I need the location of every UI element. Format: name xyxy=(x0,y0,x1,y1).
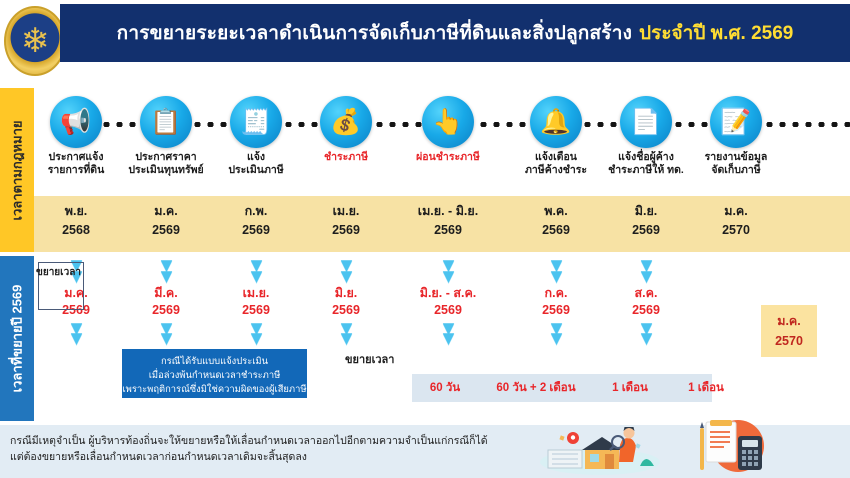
legal-date-cell-1: พ.ย.2568 xyxy=(28,202,124,240)
legal-date-month-3: ก.พ. xyxy=(208,202,304,221)
legal-date-cell-3: ก.พ.2569 xyxy=(208,202,304,240)
money-bag-hand-icon: 💰 xyxy=(320,96,372,148)
clipboard-person-icon: 📋 xyxy=(140,96,192,148)
timeline-step-label-6: แจ้งเตือนภาษีค้างชำระ xyxy=(508,151,604,177)
duration-cell-3: 1 เดือน xyxy=(592,374,668,402)
legal-date-month-4: เม.ย. xyxy=(298,202,394,221)
chevron-double-down-icon-lower: ▾▾ xyxy=(400,323,496,343)
extended-date-cell-6: ▾▾ก.ค.2569▾▾ xyxy=(508,260,604,343)
infographic-root: ❄ การขยายระยะเวลาดำเนินการจัดเก็บภาษีที่… xyxy=(0,0,850,478)
extension-chip-jan-2570: ม.ค. 2570 xyxy=(761,305,817,357)
legal-date-year-8: 2570 xyxy=(688,221,784,240)
timeline-strip: 📢ประกาศแจ้งรายการที่ดิน📋ประกาศราคาประเมิ… xyxy=(34,88,850,196)
footer-line-1: กรณีมีเหตุจำเป็น ผู้บริหารท้องถิ่นจะให้ข… xyxy=(10,433,510,449)
legal-date-cell-5: เม.ย. - มิ.ย.2569 xyxy=(400,202,496,240)
duration-cell-1: 60 วัน xyxy=(412,374,478,402)
chevron-double-down-icon-lower: ▾▾ xyxy=(208,323,304,343)
legal-dates-band: พ.ย.2568ม.ค.2569ก.พ.2569เม.ย.2569เม.ย. -… xyxy=(34,196,850,252)
chevron-double-down-icon: ▾▾ xyxy=(298,260,394,282)
timeline-step-6[interactable]: 🔔แจ้งเตือนภาษีค้างชำระ xyxy=(508,88,604,177)
timeline-step-label-3: แจ้งประเมินภาษี xyxy=(208,151,304,177)
blue-note-line-2: เมื่อล่วงพ้นกำหนดเวลาชำระภาษี xyxy=(149,368,281,382)
legal-date-cell-4: เม.ย.2569 xyxy=(298,202,394,240)
blue-note-line-3: เพราะพฤติการณ์ซึ่งมิใช่ความผิดของผู้เสีย… xyxy=(122,382,306,396)
timeline-step-7[interactable]: 📄แจ้งชื่อผู้ค้างชำระภาษีให้ ทด. xyxy=(598,88,694,177)
legal-date-year-7: 2569 xyxy=(598,221,694,240)
legal-date-year-2: 2569 xyxy=(118,221,214,240)
extend-marker-label-bottom: ขยายเวลา xyxy=(345,350,394,368)
tax-document-icon: 📄 xyxy=(620,96,672,148)
chevron-double-down-icon: ▾▾ xyxy=(508,260,604,282)
footer-text: กรณีมีเหตุจำเป็น ผู้บริหารท้องถิ่นจะให้ข… xyxy=(10,433,510,465)
legal-date-month-2: ม.ค. xyxy=(118,202,214,221)
legal-date-cell-8: ม.ค.2570 xyxy=(688,202,784,240)
page-title: การขยายระยะเวลาดำเนินการจัดเก็บภาษีที่ดิ… xyxy=(117,18,632,48)
checklist-clipboard-icon: 📝 xyxy=(710,96,762,148)
chevron-double-down-icon: ▾▾ xyxy=(598,260,694,282)
tax-calculator-icon: 🧾 xyxy=(230,96,282,148)
extended-date-month-6: ก.ค. xyxy=(508,284,604,302)
duration-strip: 60 วัน60 วัน + 2 เดือน1 เดือน1 เดือน xyxy=(412,374,712,402)
extension-chip-month: ม.ค. xyxy=(777,311,801,331)
timeline-step-5[interactable]: 👆ผ่อนชำระภาษี xyxy=(400,88,496,164)
timeline-step-2[interactable]: 📋ประกาศราคาประเมินทุนทรัพย์ xyxy=(118,88,214,177)
extended-date-cell-2: ▾▾มี.ค.2569▾▾ xyxy=(118,260,214,343)
legal-date-year-5: 2569 xyxy=(400,221,496,240)
header-bar: การขยายระยะเวลาดำเนินการจัดเก็บภาษีที่ดิ… xyxy=(60,4,850,62)
extended-date-month-4: มิ.ย. xyxy=(298,284,394,302)
hand-coin-icon: 👆 xyxy=(422,96,474,148)
extended-date-cell-5: ▾▾มิ.ย. - ส.ค.2569▾▾ xyxy=(400,260,496,343)
chevron-double-down-icon-lower: ▾▾ xyxy=(118,323,214,343)
extended-date-cell-4: ▾▾มิ.ย.2569▾▾ xyxy=(298,260,394,343)
extended-date-cell-7: ▾▾ส.ค.2569▾▾ xyxy=(598,260,694,343)
chevron-double-down-icon-lower: ▾▾ xyxy=(28,323,124,343)
legal-date-year-1: 2568 xyxy=(28,221,124,240)
legal-date-year-4: 2569 xyxy=(298,221,394,240)
timeline-step-1[interactable]: 📢ประกาศแจ้งรายการที่ดิน xyxy=(28,88,124,177)
timeline-step-8[interactable]: 📝รายงานข้อมูลจัดเก็บภาษี xyxy=(688,88,784,177)
timeline-step-3[interactable]: 🧾แจ้งประเมินภาษี xyxy=(208,88,304,177)
alert-bell-icon: 🔔 xyxy=(530,96,582,148)
legal-date-year-6: 2569 xyxy=(508,221,604,240)
megaphone-icon: 📢 xyxy=(50,96,102,148)
timeline-step-label-5: ผ่อนชำระภาษี xyxy=(400,151,496,164)
timeline-step-label-7: แจ้งชื่อผู้ค้างชำระภาษีให้ ทด. xyxy=(598,151,694,177)
extension-chip-year: 2570 xyxy=(775,331,803,351)
side-label-legal-time-text: เวลาตามกฎหมาย xyxy=(7,120,28,220)
side-label-extended-time-text: เวลาที่ขยายปี 2569 xyxy=(7,285,28,393)
legal-date-month-8: ม.ค. xyxy=(688,202,784,221)
duration-cell-4: 1 เดือน xyxy=(668,374,744,402)
blue-note-box: กรณีได้รับแบบแจ้งประเมิน เมื่อล่วงพ้นกำห… xyxy=(122,349,307,398)
legal-date-cell-2: ม.ค.2569 xyxy=(118,202,214,240)
footer-line-2: แต่ต้องขยายหรือเลื่อนกำหนดเวลาก่อนกำหนดเ… xyxy=(10,449,510,465)
legal-date-year-3: 2569 xyxy=(208,221,304,240)
extended-date-month-2: มี.ค. xyxy=(118,284,214,302)
timeline-step-4[interactable]: 💰ชำระภาษี xyxy=(298,88,394,164)
timeline-step-label-4: ชำระภาษี xyxy=(298,151,394,164)
legal-date-month-7: มิ.ย. xyxy=(598,202,694,221)
legal-date-month-5: เม.ย. - มิ.ย. xyxy=(400,202,496,221)
timeline-step-label-1: ประกาศแจ้งรายการที่ดิน xyxy=(28,151,124,177)
extend-marker-label-top: ขยายเวลา xyxy=(36,265,81,280)
singha-lion-emblem: ❄ xyxy=(4,6,66,76)
chevron-double-down-icon: ▾▾ xyxy=(118,260,214,282)
chevron-double-down-icon-lower: ▾▾ xyxy=(598,323,694,343)
emblem-lion-glyph: ❄ xyxy=(21,24,50,58)
legal-date-cell-6: พ.ค.2569 xyxy=(508,202,604,240)
extended-date-month-5: มิ.ย. - ส.ค. xyxy=(400,284,496,302)
duration-cell-2: 60 วัน + 2 เดือน xyxy=(480,374,592,402)
tax-document-calculator-illustration xyxy=(676,420,786,478)
legal-date-month-6: พ.ค. xyxy=(508,202,604,221)
page-title-year: ประจำปี พ.ศ. 2569 xyxy=(639,18,793,48)
chevron-double-down-icon-lower: ▾▾ xyxy=(298,323,394,343)
chevron-double-down-icon: ▾▾ xyxy=(208,260,304,282)
legal-date-month-1: พ.ย. xyxy=(28,202,124,221)
timeline-step-label-2: ประกาศราคาประเมินทุนทรัพย์ xyxy=(118,151,214,177)
timeline-step-label-8: รายงานข้อมูลจัดเก็บภาษี xyxy=(688,151,784,177)
extended-date-cell-3: ▾▾เม.ย.2569▾▾ xyxy=(208,260,304,343)
chevron-double-down-icon: ▾▾ xyxy=(400,260,496,282)
legal-date-cell-7: มิ.ย.2569 xyxy=(598,202,694,240)
extended-date-month-3: เม.ย. xyxy=(208,284,304,302)
chevron-double-down-icon-lower: ▾▾ xyxy=(508,323,604,343)
house-inspection-illustration xyxy=(530,420,670,478)
extended-date-month-7: ส.ค. xyxy=(598,284,694,302)
blue-note-line-1: กรณีได้รับแบบแจ้งประเมิน xyxy=(161,354,268,368)
